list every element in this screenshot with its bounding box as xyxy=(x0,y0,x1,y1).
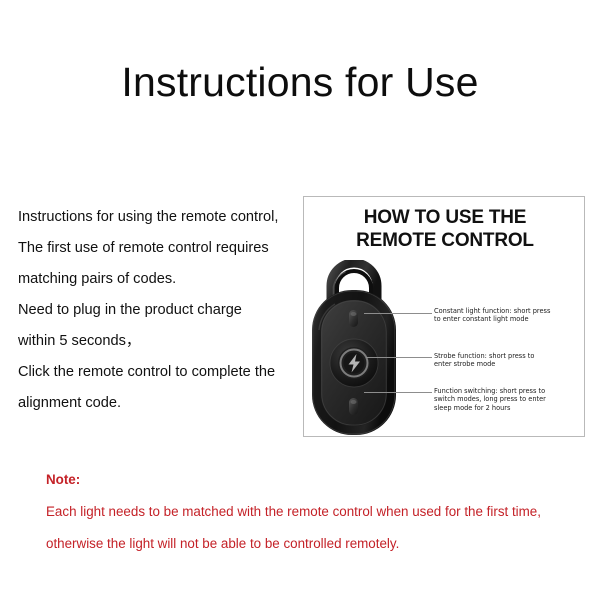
annotation-line: Strobe function: short press to xyxy=(434,352,585,360)
annotation-constant-light: Constant light function: short press to … xyxy=(434,307,585,324)
note-heading: Note: xyxy=(46,464,566,496)
annotation-line: enter strobe mode xyxy=(434,360,585,368)
function-switch-button[interactable] xyxy=(349,398,358,415)
instruction-line: matching pairs of codes. xyxy=(18,264,290,295)
instruction-line: The first use of remote control requires xyxy=(18,233,290,264)
instructions-text-block: Instructions for using the remote contro… xyxy=(18,202,290,419)
remote-control-illustration xyxy=(309,260,444,437)
instruction-line: Instructions for using the remote contro… xyxy=(18,202,290,233)
constant-light-button[interactable] xyxy=(349,310,358,327)
note-line: Each light needs to be matched with the … xyxy=(46,496,566,528)
instruction-line: alignment code. xyxy=(18,388,290,419)
panel-heading-line1: HOW TO USE THE xyxy=(304,206,585,229)
annotation-line: to enter constant light mode xyxy=(434,315,585,323)
leader-line-constant-light xyxy=(364,313,432,314)
annotation-function-switching: Function switching: short press to switc… xyxy=(434,387,585,412)
panel-heading-line2: REMOTE CONTROL xyxy=(304,229,585,252)
instruction-line: Click the remote control to complete the xyxy=(18,357,290,388)
instruction-line: within 5 seconds， xyxy=(18,326,290,357)
note-block: Note: Each light needs to be matched wit… xyxy=(46,464,566,560)
annotation-strobe: Strobe function: short press to enter st… xyxy=(434,352,585,369)
annotation-line: Function switching: short press to xyxy=(434,387,585,395)
strobe-button[interactable] xyxy=(330,339,378,387)
panel-heading: HOW TO USE THE REMOTE CONTROL xyxy=(304,206,585,252)
leader-line-function-switching xyxy=(364,392,432,393)
how-to-use-panel: HOW TO USE THE REMOTE CONTROL xyxy=(303,196,585,437)
page-title: Instructions for Use xyxy=(0,58,600,106)
annotation-line: sleep mode for 2 hours xyxy=(434,404,585,412)
annotation-line: Constant light function: short press xyxy=(434,307,585,315)
annotation-line: switch modes, long press to enter xyxy=(434,395,585,403)
leader-line-strobe xyxy=(366,357,432,358)
note-line: otherwise the light will not be able to … xyxy=(46,528,566,560)
instruction-line: Need to plug in the product charge xyxy=(18,295,290,326)
